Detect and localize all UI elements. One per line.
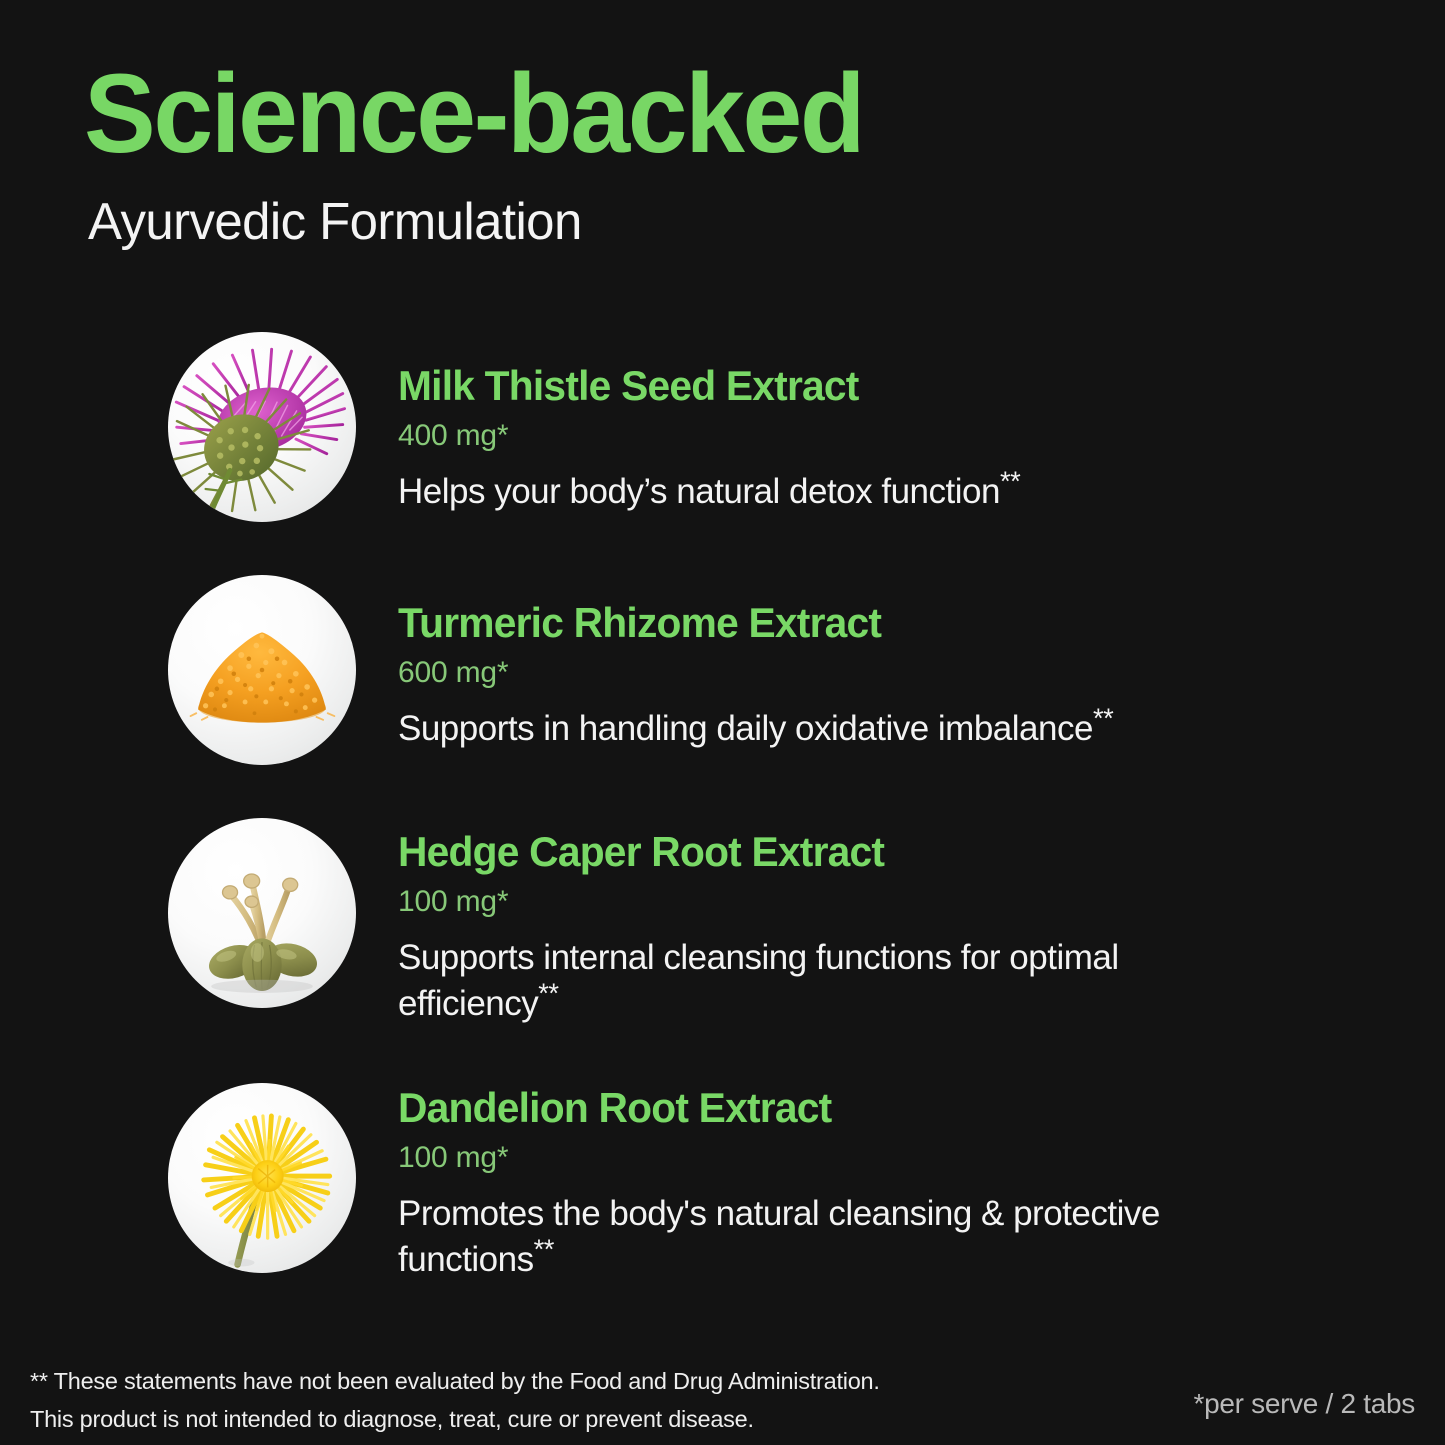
ingredient-thumbnail bbox=[168, 575, 356, 765]
ingredient-benefit: Supports in handling daily oxidative imb… bbox=[398, 706, 1188, 752]
ingredient-name: Dandelion Root Extract bbox=[398, 1086, 1368, 1130]
ingredient-dose: 600 mg* bbox=[398, 658, 1398, 688]
footnote-marker: ** bbox=[534, 1234, 554, 1265]
ingredient-dose: 100 mg* bbox=[398, 1143, 1398, 1173]
ingredient-name: Milk Thistle Seed Extract bbox=[398, 364, 1368, 408]
footnote-marker: ** bbox=[1000, 465, 1020, 496]
ingredient-name: Turmeric Rhizome Extract bbox=[398, 601, 1368, 645]
ingredient-benefit: Supports internal cleansing functions fo… bbox=[398, 935, 1188, 1027]
page-subtitle: Ayurvedic Formulation bbox=[88, 196, 1348, 248]
header-block: Science-backed Ayurvedic Formulation bbox=[84, 58, 1374, 248]
ingredient-dose: 400 mg* bbox=[398, 421, 1398, 451]
disclaimer-line-2: This product is not intended to diagnose… bbox=[30, 1400, 880, 1438]
milk-thistle-flower-icon bbox=[168, 332, 356, 522]
per-serve-note: *per serve / 2 tabs bbox=[1193, 1388, 1415, 1420]
ingredient-thumbnail bbox=[168, 818, 356, 1008]
caper-berries-icon bbox=[168, 818, 356, 1008]
ingredient-text: Milk Thistle Seed Extract 400 mg* Helps … bbox=[398, 364, 1398, 515]
ingredient-thumbnail bbox=[168, 332, 356, 522]
footnote-marker: ** bbox=[538, 978, 558, 1009]
ingredient-benefit: Promotes the body's natural cleansing & … bbox=[398, 1191, 1188, 1283]
ingredient-text: Dandelion Root Extract 100 mg* Promotes … bbox=[398, 1086, 1398, 1283]
dandelion-flower-icon bbox=[168, 1083, 356, 1273]
page-title: Science-backed bbox=[84, 58, 1322, 170]
ingredient-text: Hedge Caper Root Extract 100 mg* Support… bbox=[398, 830, 1398, 1027]
footnote-marker: ** bbox=[1093, 702, 1113, 733]
disclaimer-line-1: ** These statements have not been evalua… bbox=[30, 1362, 880, 1400]
ingredient-name: Hedge Caper Root Extract bbox=[398, 830, 1368, 874]
ingredient-dose: 100 mg* bbox=[398, 887, 1398, 917]
turmeric-powder-icon bbox=[168, 575, 356, 765]
fda-disclaimer: ** These statements have not been evalua… bbox=[30, 1362, 880, 1438]
ingredient-benefit: Helps your body’s natural detox function… bbox=[398, 469, 1188, 515]
ingredient-text: Turmeric Rhizome Extract 600 mg* Support… bbox=[398, 601, 1398, 752]
ingredient-thumbnail bbox=[168, 1083, 356, 1273]
